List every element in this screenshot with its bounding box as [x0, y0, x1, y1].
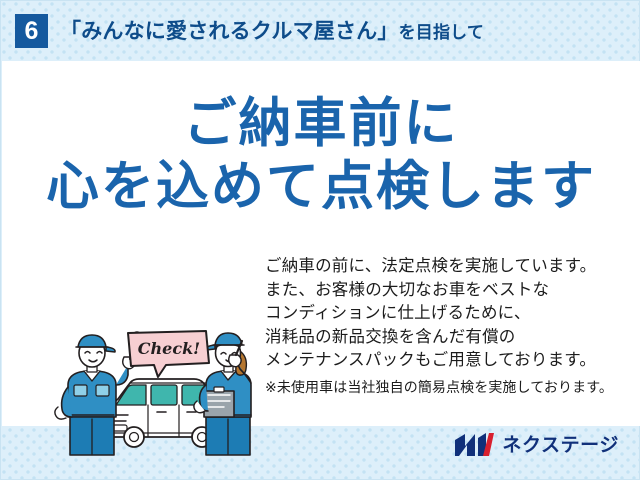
headline: ご納車前に 心を込めて点検します — [2, 93, 640, 218]
nextage-logo: ネクステージ — [453, 432, 619, 458]
speech-bubble-label: Check! — [138, 339, 200, 358]
headline-line-2: 心を込めて点検します — [2, 156, 640, 219]
content-panel: ご納車前に 心を込めて点検します — [2, 61, 640, 426]
body-note: ※未使用車は当社独自の簡易点検を実施しております。 — [265, 376, 635, 398]
nextage-n-mark — [453, 432, 495, 458]
body-line: また、お客様の大切なお車をベストな — [265, 279, 635, 303]
headline-line-1: ご納車前に — [2, 93, 640, 156]
section-number-badge: 6 — [15, 14, 48, 48]
brand-name: ネクステージ — [502, 436, 619, 455]
header-title-main: 「みんなに愛されるクルマ屋さん」 — [60, 20, 399, 43]
body-line: コンディションに仕上げるために、 — [265, 302, 635, 326]
body-area: Check! ご納車の前に、法定点検を実施しています。 また、お客様の大切なお車… — [2, 255, 640, 426]
banner-header: 6 「みんなに愛されるクルマ屋さん」を目指して — [1, 1, 640, 61]
header-title-sub: を目指して — [399, 23, 485, 42]
body-line: 消耗品の新品交換を含んだ有償の — [265, 326, 635, 350]
body-line: メンテナンスパックもご用意しております。 — [265, 349, 635, 373]
body-line: ご納車の前に、法定点検を実施しています。 — [265, 255, 635, 279]
banner-footer: ネクステージ — [1, 424, 640, 479]
body-paragraph: ご納車の前に、法定点検を実施しています。 また、お客様の大切なお車をベストな コ… — [265, 255, 635, 398]
promo-banner: 6 「みんなに愛されるクルマ屋さん」を目指して ご納車前に 心を込めて点検します — [0, 0, 640, 480]
header-title: 「みんなに愛されるクルマ屋さん」を目指して — [60, 21, 484, 42]
